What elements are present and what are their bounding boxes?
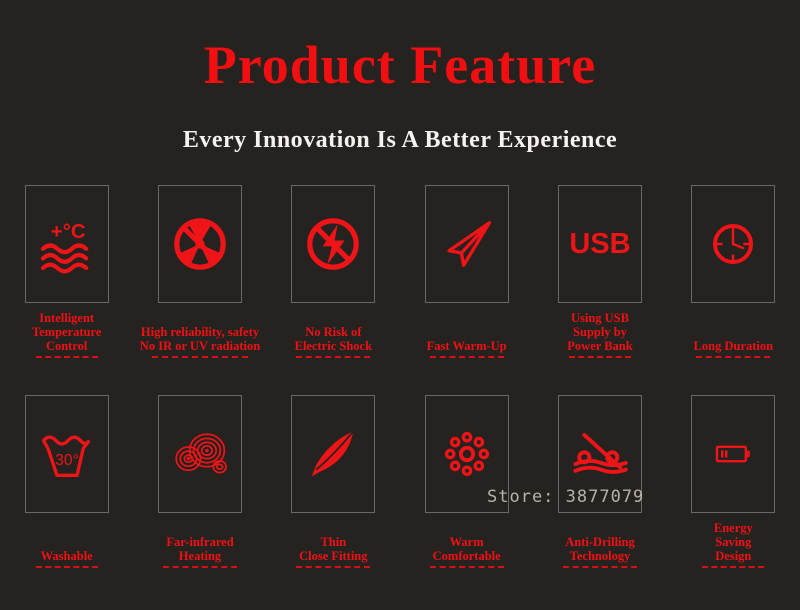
feature-grid-row-1: +°CIntelligent Temperature ControlHigh r…	[0, 180, 800, 380]
feature-icon-card	[291, 185, 375, 303]
feature-label-wrap: Far-infrared Heating	[133, 535, 266, 568]
feature-label: Far-infrared Heating	[164, 535, 235, 563]
temperature-waves-icon: +°C	[37, 214, 97, 274]
washtub-icon: 30°	[38, 426, 96, 482]
feature-label: Warm Comfortable	[431, 535, 503, 563]
feature-icon-card	[691, 185, 775, 303]
feature-label-underline	[296, 566, 370, 568]
feature-icon-card: USB	[558, 185, 642, 303]
feature-icon-card	[425, 185, 509, 303]
battery-icon	[705, 434, 761, 474]
feature-label-wrap: Washable	[0, 549, 133, 568]
anti-drilling-needle-icon	[571, 426, 629, 482]
feature-icon-card	[691, 395, 775, 513]
feature-label-wrap: Thin Close Fitting	[267, 535, 400, 568]
usb-icon: USB	[569, 230, 630, 259]
feature-label: Washable	[39, 549, 95, 563]
feature-label: Fast Warm-Up	[425, 339, 509, 353]
feature-label-underline	[163, 566, 237, 568]
sun-dots-icon	[439, 426, 495, 482]
feature-cell: Thin Close Fitting	[267, 390, 400, 590]
feature-label-underline	[563, 566, 637, 568]
feature-label-wrap: Long Duration	[667, 339, 800, 358]
feature-label: No Risk of Electric Shock	[293, 325, 374, 353]
feature-label-wrap: Intelligent Temperature Control	[0, 311, 133, 358]
feature-label: Anti-Drilling Technology	[563, 535, 636, 563]
svg-text:+°C: +°C	[50, 221, 85, 243]
feature-icon-card: 30°	[25, 395, 109, 513]
feature-cell: Far-infrared Heating	[133, 390, 266, 590]
no-radiation-icon	[171, 215, 229, 273]
feature-label-wrap: Fast Warm-Up	[400, 339, 533, 358]
no-electric-shock-icon	[304, 215, 362, 273]
page-subtitle: Every Innovation Is A Better Experience	[0, 128, 800, 152]
svg-text:30°: 30°	[55, 452, 79, 469]
feather-icon	[305, 426, 361, 482]
feature-cell: Energy Saving Design	[667, 390, 800, 590]
clock-icon	[708, 219, 758, 269]
feature-cell: High reliability, safety No IR or UV rad…	[133, 180, 266, 380]
feature-label-underline	[702, 566, 764, 568]
feature-label-underline	[36, 356, 98, 358]
page-title: Product Feature	[0, 38, 800, 92]
feature-label: Using USB Supply by Power Bank	[565, 311, 634, 353]
product-feature-infographic: Product Feature Every Innovation Is A Be…	[0, 0, 800, 610]
feature-label: Energy Saving Design	[712, 521, 755, 563]
feature-cell: USBUsing USB Supply by Power Bank	[533, 180, 666, 380]
feature-label-wrap: Warm Comfortable	[400, 535, 533, 568]
feature-cell: 30°Washable	[0, 390, 133, 590]
feature-cell: +°CIntelligent Temperature Control	[0, 180, 133, 380]
feature-cell: Fast Warm-Up	[400, 180, 533, 380]
feature-icon-card: +°C	[25, 185, 109, 303]
feature-label-wrap: Energy Saving Design	[667, 521, 800, 568]
feature-label: Intelligent Temperature Control	[30, 311, 103, 353]
feature-label: Long Duration	[692, 339, 776, 353]
feature-cell: No Risk of Electric Shock	[267, 180, 400, 380]
feature-label-underline	[152, 356, 248, 358]
feature-icon-card	[158, 395, 242, 513]
feature-label-underline	[430, 356, 504, 358]
feature-grid-row-2: 30°WashableFar-infrared HeatingThin Clos…	[0, 390, 800, 590]
feature-label-underline	[696, 356, 770, 358]
feature-label-underline	[569, 356, 631, 358]
paper-plane-icon	[439, 216, 495, 272]
feature-label: Thin Close Fitting	[297, 535, 369, 563]
store-watermark: Store: 3877079	[487, 487, 644, 507]
feature-label-underline	[36, 566, 98, 568]
feature-label-underline	[430, 566, 504, 568]
feature-label: High reliability, safety No IR or UV rad…	[138, 325, 262, 353]
feature-icon-card	[158, 185, 242, 303]
feature-label-underline	[296, 356, 370, 358]
feature-cell: Long Duration	[667, 180, 800, 380]
feature-label-wrap: Using USB Supply by Power Bank	[533, 311, 666, 358]
far-infrared-waves-icon	[169, 425, 231, 483]
feature-label-wrap: High reliability, safety No IR or UV rad…	[133, 325, 266, 358]
feature-label-wrap: No Risk of Electric Shock	[267, 325, 400, 358]
feature-label-wrap: Anti-Drilling Technology	[533, 535, 666, 568]
feature-icon-card	[291, 395, 375, 513]
